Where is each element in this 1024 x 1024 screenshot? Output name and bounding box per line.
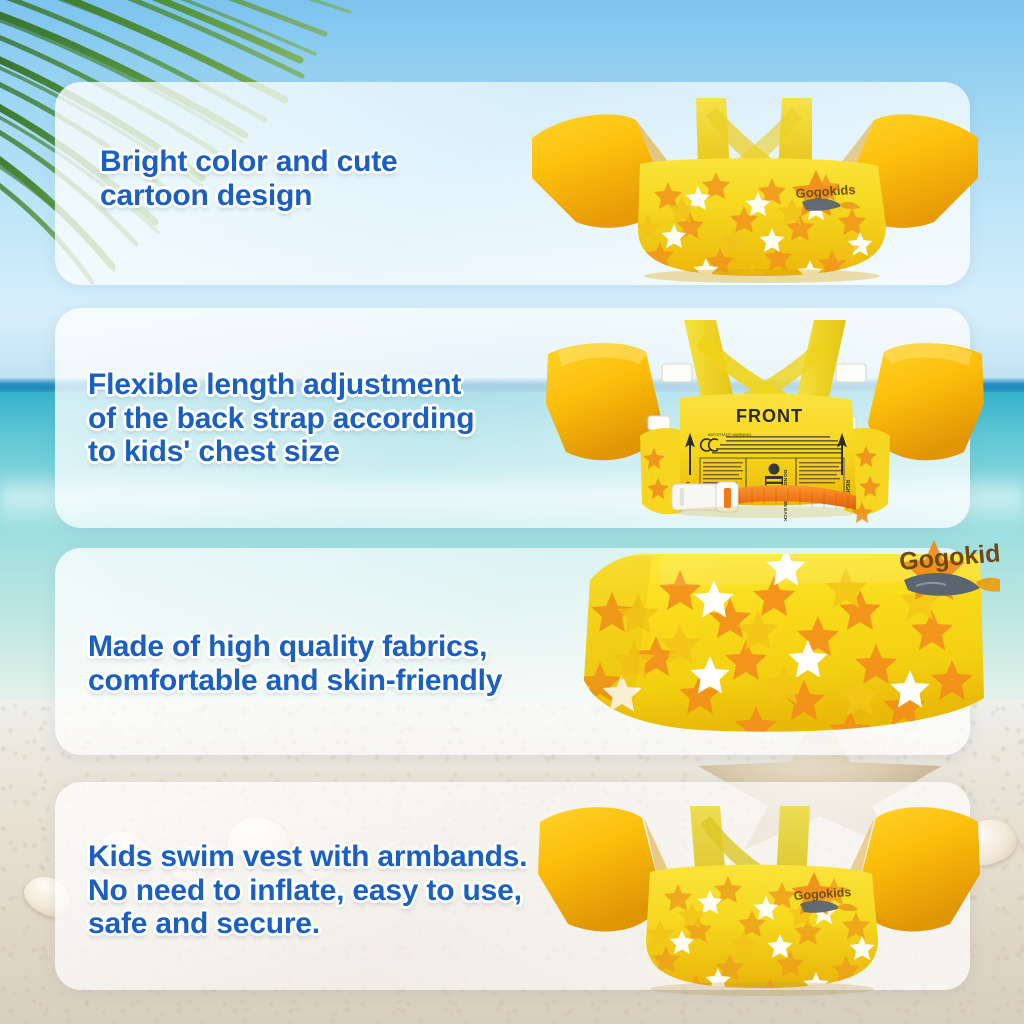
swim-vest-back: FRONT IMPORTANT WARNING [540,312,990,534]
swim-vest-on-sand: Gogokids [534,784,984,996]
panel-1-caption: Bright color and cute cartoon design [100,145,398,212]
panel-2-caption: Flexible length adjustment of the back s… [88,368,474,469]
svg-text:FRONT: FRONT [736,406,803,426]
panel-3-caption: Made of high quality fabrics, comfortabl… [88,630,502,697]
panel-4-caption: Kids swim vest with armbands. No need to… [88,840,527,941]
swim-vest-front: Gogokids [520,86,990,301]
svg-text:Gogokids: Gogokids [898,540,1000,576]
brand-logo: Gogokids [898,540,1000,600]
fabric-closeup: Gogokids [560,540,1000,750]
infographic-stage: Bright color and cute cartoon design [0,0,1024,1024]
